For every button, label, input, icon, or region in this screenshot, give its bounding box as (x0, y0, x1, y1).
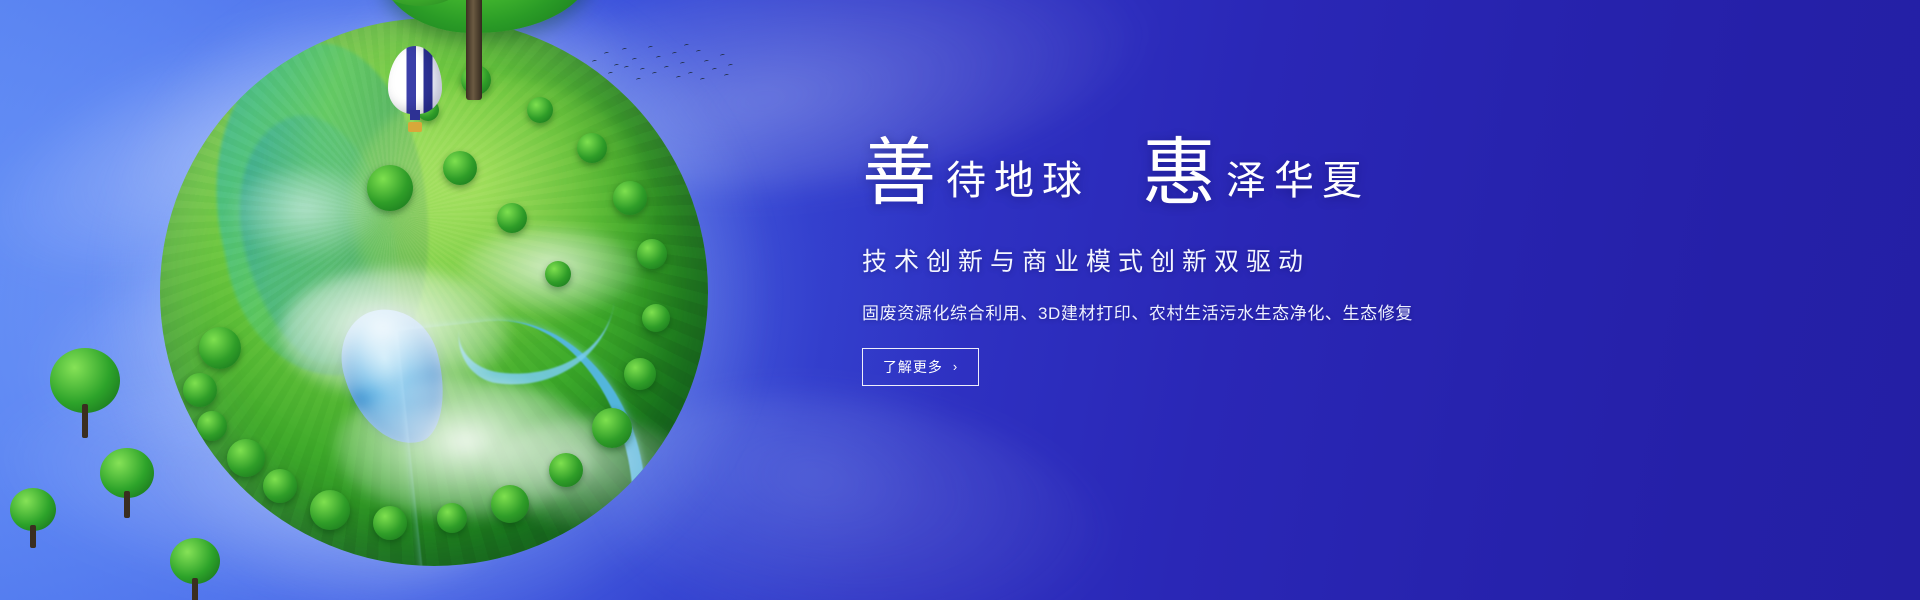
bird-icon (624, 66, 630, 70)
tree-cluster (199, 327, 241, 369)
tree-cluster (373, 506, 407, 540)
page-title: 善 待地球 惠 泽华夏 (862, 132, 1562, 218)
tree-trunk (124, 491, 130, 518)
bird-icon (724, 74, 730, 78)
bird-icon (696, 50, 702, 54)
bird-icon (676, 76, 682, 80)
bird-icon (640, 68, 646, 72)
learn-more-label: 了解更多 (883, 357, 943, 377)
tree-trunk (192, 578, 198, 600)
tree-cluster (527, 97, 553, 123)
bird-icon (636, 78, 642, 82)
tree-cluster (545, 261, 571, 287)
bird-icon (604, 52, 610, 56)
tree-cluster (491, 485, 529, 523)
tree-cluster (443, 151, 477, 185)
bird-icon (656, 56, 662, 60)
tree-trunk (466, 0, 482, 100)
bird-icon (648, 46, 654, 50)
hero-content: 善 待地球 惠 泽华夏 技术创新与商业模式创新双驱动 固废资源化综合利用、3D建… (862, 132, 1562, 386)
tree-cluster (437, 503, 467, 533)
tree-cluster (183, 373, 217, 407)
balloon-basket (408, 122, 422, 132)
tree-trunk (82, 404, 88, 438)
balloon-neck (410, 110, 420, 120)
bird-icon (700, 78, 706, 82)
bird-icon (680, 62, 686, 66)
bird-icon (614, 64, 620, 68)
bird-icon (664, 66, 670, 70)
bird-icon (652, 72, 658, 76)
tree-cluster (613, 181, 647, 215)
bird-icon (688, 72, 694, 76)
tree-cluster (263, 469, 297, 503)
hero-subtitle: 技术创新与商业模式创新双驱动 (862, 242, 1562, 278)
tree-cluster (310, 490, 350, 530)
foreground-tree (170, 538, 220, 600)
headline-char-1: 善 (862, 136, 936, 210)
chevron-right-icon: › (953, 360, 958, 373)
globe-illustration (160, 18, 708, 566)
tree-cluster (549, 453, 583, 487)
headline-rest-1: 待地球 (946, 161, 1090, 201)
bird-icon (608, 72, 614, 76)
foreground-tree (10, 488, 56, 548)
tree-cluster (577, 133, 607, 163)
tree-cluster (642, 304, 670, 332)
bird-icon (704, 60, 710, 64)
tree-cluster (227, 439, 265, 477)
bird-icon (632, 58, 638, 62)
tree-trunk (30, 525, 36, 548)
bird-icon (672, 52, 678, 56)
bird-icon (712, 68, 718, 72)
tree-cluster (624, 358, 656, 390)
bird-icon (728, 64, 734, 68)
bird-icon (622, 48, 628, 52)
foreground-tree (50, 348, 120, 438)
hot-air-balloon-icon (388, 46, 442, 138)
headline-char-2: 惠 (1142, 136, 1216, 210)
hero-description: 固废资源化综合利用、3D建材打印、农村生活污水生态净化、生态修复 (862, 299, 1562, 324)
foreground-tree (100, 448, 154, 518)
balloon-envelope (388, 46, 442, 114)
tree-cluster (637, 239, 667, 269)
bird-flock-icon (588, 42, 738, 90)
tree-cluster (197, 411, 227, 441)
tree-cluster (497, 203, 527, 233)
bird-icon (684, 44, 690, 48)
headline-rest-2: 泽华夏 (1226, 161, 1370, 201)
learn-more-button[interactable]: 了解更多 › (862, 348, 979, 386)
bird-icon (720, 54, 726, 58)
hero-banner: 善 待地球 惠 泽华夏 技术创新与商业模式创新双驱动 固废资源化综合利用、3D建… (0, 0, 1920, 600)
planet-cloud (230, 168, 380, 258)
tree-cluster (592, 408, 632, 448)
bird-icon (592, 60, 598, 64)
tree-cluster (367, 165, 413, 211)
